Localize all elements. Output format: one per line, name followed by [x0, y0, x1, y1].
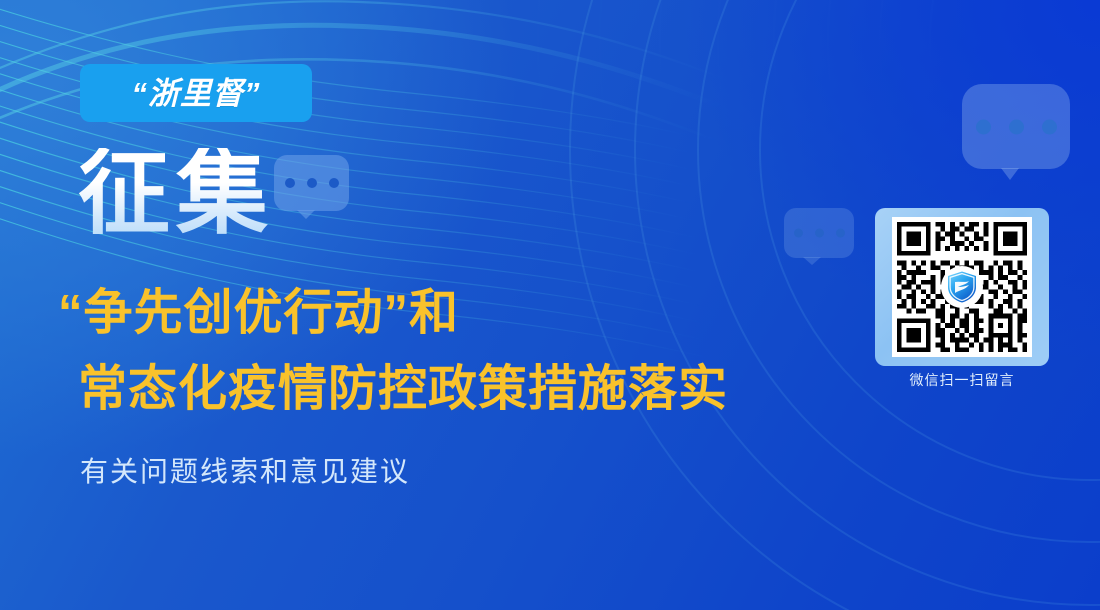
brand-badge-label: “浙里督”	[132, 78, 261, 109]
headline-collect: 征集	[78, 148, 274, 240]
brand-badge: “浙里督”	[80, 64, 312, 122]
bubble-dots	[784, 229, 854, 238]
speech-bubble-icon-mid	[274, 155, 349, 211]
title-line-2: 常态化疫情防控政策措施落实	[78, 362, 728, 417]
bubble-dots	[274, 178, 349, 188]
speech-bubble-icon-small	[784, 208, 854, 258]
bubble-tail	[1001, 168, 1019, 180]
shield-logo-icon	[941, 266, 983, 308]
qr-code-panel[interactable]	[875, 208, 1049, 366]
qr-code-caption: 微信扫一扫留言	[875, 370, 1049, 390]
bubble-dots	[962, 119, 1070, 134]
poster-banner: “浙里督” 征集 “争先创优行动”和 常态化疫情防控政策措施落实 有关问题线索和…	[0, 0, 1100, 610]
bubble-tail	[297, 210, 315, 219]
title-line-1: “争先创优行动”和	[58, 286, 459, 341]
page-subtitle: 有关问题线索和意见建议	[80, 450, 410, 490]
qr-code-image[interactable]	[892, 217, 1032, 357]
bubble-tail	[803, 257, 821, 265]
speech-bubble-icon-large	[962, 84, 1070, 169]
